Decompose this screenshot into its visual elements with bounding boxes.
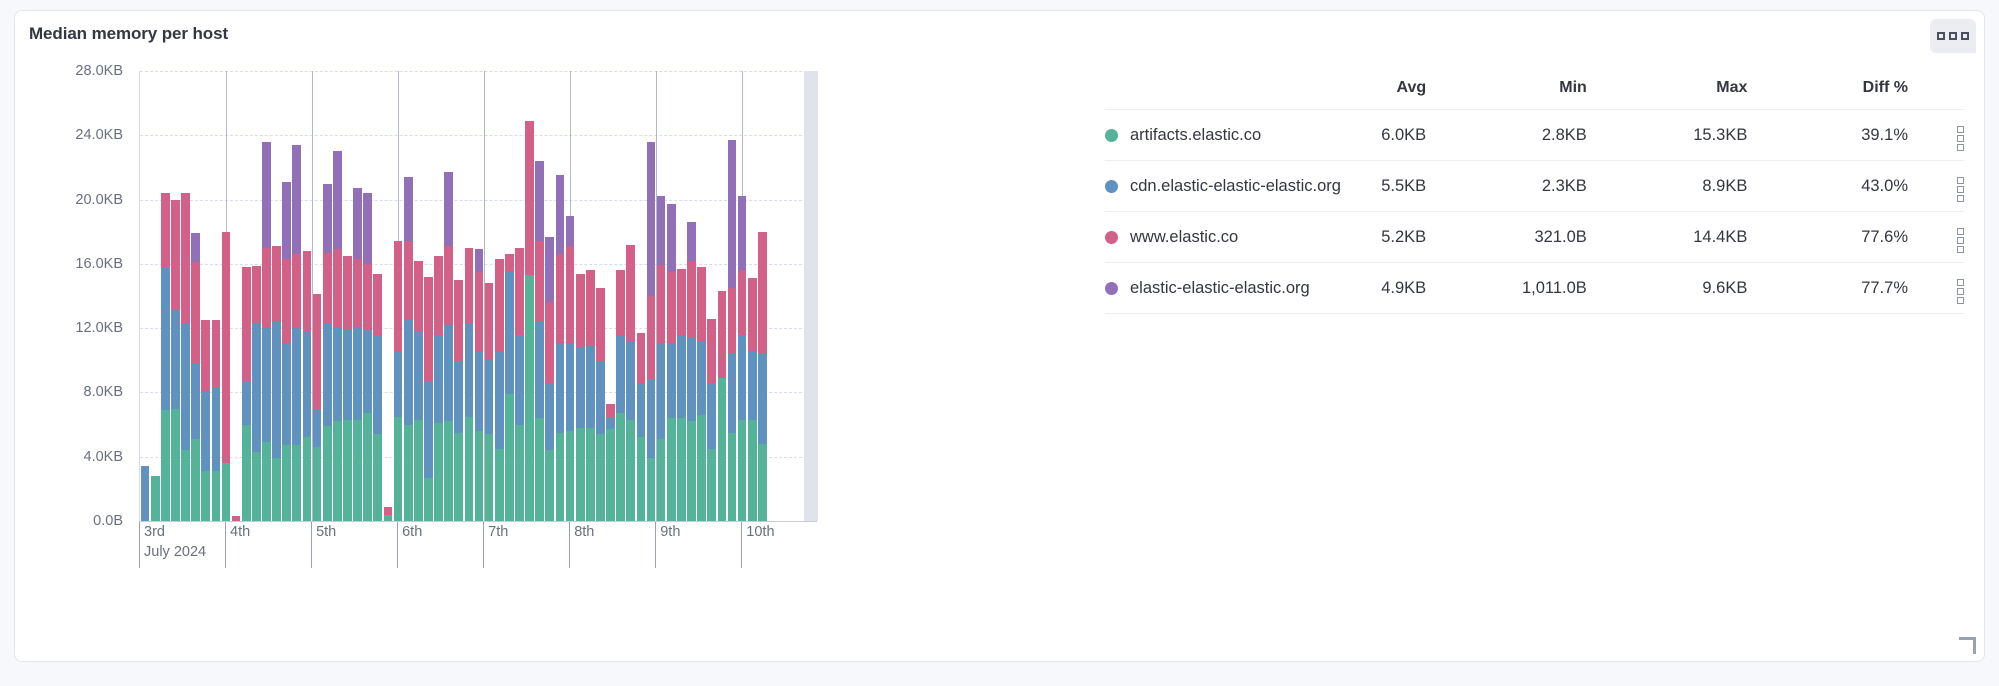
drag-handle-icon[interactable] xyxy=(1957,126,1964,151)
bar-stack[interactable] xyxy=(616,270,625,521)
bar-stack[interactable] xyxy=(728,140,737,521)
legend-max-value: 15.3KB xyxy=(1587,110,1748,161)
bar-stack[interactable] xyxy=(434,256,443,521)
bar-segment xyxy=(758,232,767,354)
bar-segment xyxy=(444,246,453,325)
bar-stack[interactable] xyxy=(475,249,484,521)
bar-segment xyxy=(323,184,332,253)
bar-segment xyxy=(465,248,474,324)
bar-segment xyxy=(505,394,514,521)
bar-segment xyxy=(515,335,524,425)
drag-handle-dot xyxy=(1957,288,1964,295)
bar-segment xyxy=(606,429,615,521)
bar-stack[interactable] xyxy=(576,274,585,521)
bar-segment xyxy=(475,272,484,352)
legend-header-max[interactable]: Max xyxy=(1587,79,1748,110)
bar-stack[interactable] xyxy=(738,196,747,521)
bar-stack[interactable] xyxy=(282,182,291,521)
bar-segment xyxy=(292,254,301,328)
bar-segment xyxy=(535,161,544,241)
bar-stack[interactable] xyxy=(424,277,433,521)
legend-series-label: elastic-elastic-elastic.org xyxy=(1130,279,1310,298)
bar-stack[interactable] xyxy=(343,256,352,521)
bar-stack[interactable] xyxy=(313,294,322,521)
legend-diff-value: 43.0% xyxy=(1747,161,1908,212)
legend-row[interactable]: cdn.elastic-elastic-elastic.org5.5KB2.3K… xyxy=(1105,161,1964,212)
legend-row-grip-cell[interactable] xyxy=(1908,212,1964,263)
bar-segment xyxy=(424,381,433,477)
bar-stack[interactable] xyxy=(141,466,150,521)
bar-segment xyxy=(282,182,291,259)
bar-stack[interactable] xyxy=(262,142,271,521)
legend-row-grip-cell[interactable] xyxy=(1908,161,1964,212)
drag-handle-icon[interactable] xyxy=(1957,228,1964,253)
drag-handle-dot xyxy=(1957,246,1964,253)
legend-min-value: 2.3KB xyxy=(1426,161,1587,212)
bar-segment xyxy=(292,328,301,445)
bar-segment xyxy=(353,259,362,327)
bar-segment xyxy=(323,426,332,521)
bar-segment xyxy=(404,320,413,424)
bar-stack[interactable] xyxy=(363,193,372,521)
bar-stack[interactable] xyxy=(505,254,514,521)
bar-segment xyxy=(616,336,625,413)
bar-segment xyxy=(465,417,474,521)
bar-segment xyxy=(748,420,757,521)
bar-stack[interactable] xyxy=(707,319,716,521)
bar-segment xyxy=(738,270,747,334)
bar-segment xyxy=(292,145,301,254)
bar-segment xyxy=(566,246,575,342)
bar-series-layer[interactable] xyxy=(140,71,817,521)
bar-segment xyxy=(545,450,554,521)
bar-segment xyxy=(556,433,565,521)
bar-stack[interactable] xyxy=(394,241,403,521)
bar-segment xyxy=(728,433,737,521)
legend-avg-value: 6.0KB xyxy=(1266,110,1427,161)
legend-max-value: 8.9KB xyxy=(1587,161,1748,212)
bar-segment xyxy=(576,274,585,348)
bar-segment xyxy=(404,241,413,320)
y-axis-tick-label: 8.0KB xyxy=(84,384,124,400)
panel-menu-square-1 xyxy=(1937,32,1945,40)
x-axis-tick-label: 7th xyxy=(488,522,508,542)
bar-stack[interactable] xyxy=(626,245,635,521)
bar-segment xyxy=(475,249,484,272)
resize-handle-icon[interactable] xyxy=(1959,637,1976,654)
bar-segment xyxy=(657,344,666,439)
legend-header-min[interactable]: Min xyxy=(1426,79,1587,110)
bar-segment xyxy=(444,325,453,421)
x-axis-tick: 6th xyxy=(397,522,422,568)
legend-row[interactable]: elastic-elastic-elastic.org4.9KB1,011.0B… xyxy=(1105,263,1964,314)
drag-handle-icon[interactable] xyxy=(1957,279,1964,304)
bar-segment xyxy=(576,428,585,521)
bar-segment xyxy=(535,241,544,321)
bar-stack[interactable] xyxy=(596,288,605,521)
bar-stack[interactable] xyxy=(242,267,251,521)
bar-stack[interactable] xyxy=(586,270,595,521)
x-axis-tick: 8th xyxy=(569,522,594,568)
bar-segment xyxy=(191,233,200,262)
bar-segment xyxy=(637,437,646,521)
bar-segment xyxy=(262,142,271,248)
bar-segment xyxy=(242,381,251,424)
legend-diff-value: 39.1% xyxy=(1747,110,1908,161)
bar-stack[interactable] xyxy=(323,184,332,521)
panel-body: 0.0B4.0KB8.0KB12.0KB16.0KB20.0KB24.0KB28… xyxy=(15,57,1984,661)
bar-stack[interactable] xyxy=(637,333,646,521)
bar-stack[interactable] xyxy=(606,404,615,521)
y-axis-tick-label: 4.0KB xyxy=(84,449,124,465)
bar-segment xyxy=(667,204,676,272)
legend-row[interactable]: www.elastic.co5.2KB321.0B14.4KB77.6% xyxy=(1105,212,1964,263)
bar-segment xyxy=(667,343,676,419)
bar-stack[interactable] xyxy=(657,196,666,521)
legend-series-label: cdn.elastic-elastic-elastic.org xyxy=(1130,177,1341,196)
bar-stack[interactable] xyxy=(222,232,231,521)
bar-stack[interactable] xyxy=(748,278,757,521)
bar-segment xyxy=(485,434,494,521)
bar-segment xyxy=(363,330,372,414)
bar-segment xyxy=(262,248,271,328)
bar-segment xyxy=(434,335,443,423)
bar-segment xyxy=(677,336,686,418)
bar-segment xyxy=(758,354,767,444)
bar-stack[interactable] xyxy=(303,251,312,521)
bar-segment xyxy=(566,431,575,521)
bar-stack[interactable] xyxy=(535,161,544,521)
bar-segment xyxy=(485,283,494,360)
bar-stack[interactable] xyxy=(292,145,301,521)
bar-segment xyxy=(626,420,635,521)
chart-container[interactable]: 0.0B4.0KB8.0KB12.0KB16.0KB20.0KB24.0KB28… xyxy=(23,57,1083,661)
legend-min-value: 321.0B xyxy=(1426,212,1587,263)
bar-segment xyxy=(252,266,261,324)
bar-segment xyxy=(323,323,332,426)
bar-segment xyxy=(545,383,554,451)
y-axis-tick-label: 20.0KB xyxy=(75,192,123,208)
bar-segment xyxy=(687,261,696,338)
bar-segment xyxy=(363,193,372,264)
y-axis-tick-label: 0.0B xyxy=(93,513,123,529)
drag-handle-dot xyxy=(1957,186,1964,193)
bar-segment xyxy=(181,450,190,521)
bar-segment xyxy=(667,418,676,521)
bar-segment xyxy=(191,439,200,521)
x-axis-tick-label: 9th xyxy=(660,522,680,542)
bar-segment xyxy=(566,343,575,431)
bar-segment xyxy=(424,478,433,521)
bar-segment xyxy=(201,320,210,391)
bar-stack[interactable] xyxy=(758,232,767,521)
bar-segment xyxy=(353,420,362,521)
legend-color-dot-icon xyxy=(1105,129,1118,142)
bar-segment xyxy=(728,288,737,354)
bar-segment xyxy=(697,267,706,341)
legend-header-diff[interactable]: Diff % xyxy=(1747,79,1908,110)
bar-stack[interactable] xyxy=(161,193,170,521)
bar-segment xyxy=(465,323,474,416)
bar-segment xyxy=(404,425,413,521)
bar-segment xyxy=(282,259,291,343)
bar-stack[interactable] xyxy=(545,237,554,521)
bar-segment xyxy=(556,344,565,432)
bar-segment xyxy=(637,384,646,437)
bar-stack[interactable] xyxy=(333,151,342,521)
bar-stack[interactable] xyxy=(485,283,494,521)
bar-stack[interactable] xyxy=(444,172,453,521)
bar-segment xyxy=(475,352,484,431)
bar-segment xyxy=(586,346,595,428)
x-axis-tick-label: 8th xyxy=(574,522,594,542)
bar-stack[interactable] xyxy=(667,204,676,521)
bar-segment xyxy=(333,327,342,422)
bar-segment xyxy=(272,458,281,521)
bar-segment xyxy=(485,360,494,434)
bar-segment xyxy=(171,200,180,311)
x-axis-tick: 9th xyxy=(655,522,680,568)
bar-stack[interactable] xyxy=(191,233,200,521)
bar-segment xyxy=(333,249,342,326)
legend-color-dot-icon xyxy=(1105,282,1118,295)
bar-stack[interactable] xyxy=(525,121,534,521)
legend-header-avg[interactable]: Avg xyxy=(1266,79,1427,110)
legend-avg-value: 5.2KB xyxy=(1266,212,1427,263)
drag-handle-dot xyxy=(1957,195,1964,202)
legend-table-container: Avg Min Max Diff % artifacts.elastic.co6… xyxy=(1083,57,1976,661)
bar-segment xyxy=(212,320,221,388)
drag-handle-dot xyxy=(1957,144,1964,151)
bar-stack[interactable] xyxy=(151,476,160,521)
y-axis-tick-label: 28.0KB xyxy=(75,63,123,79)
bar-segment xyxy=(191,262,200,363)
y-axis-tick-label: 24.0KB xyxy=(75,127,123,143)
bar-segment xyxy=(697,341,706,415)
bar-stack[interactable] xyxy=(384,507,393,521)
legend-row-grip-cell[interactable] xyxy=(1908,110,1964,161)
bar-segment xyxy=(292,445,301,521)
bar-segment xyxy=(353,188,362,259)
bar-segment xyxy=(151,476,160,521)
bar-stack[interactable] xyxy=(201,320,210,521)
bar-segment xyxy=(545,237,554,303)
bar-segment xyxy=(626,245,635,341)
bar-segment xyxy=(515,425,524,521)
bar-segment xyxy=(606,404,615,418)
drag-handle-dot xyxy=(1957,228,1964,235)
bar-segment xyxy=(394,352,403,416)
bar-segment xyxy=(242,267,251,381)
x-axis-tick: 4th xyxy=(225,522,250,568)
bar-stack[interactable] xyxy=(718,291,727,521)
x-axis-tick: 10th xyxy=(741,522,774,568)
panel-menu-square-2 xyxy=(1949,32,1957,40)
bar-stack[interactable] xyxy=(373,274,382,521)
bar-segment xyxy=(566,216,575,247)
bar-stack[interactable] xyxy=(353,188,362,521)
bar-stack[interactable] xyxy=(454,280,463,521)
bar-segment xyxy=(272,322,281,459)
bar-segment xyxy=(535,418,544,521)
bar-segment xyxy=(222,463,231,521)
legend-header-row: Avg Min Max Diff % xyxy=(1105,79,1964,110)
bar-stack[interactable] xyxy=(647,142,656,521)
bar-segment xyxy=(728,354,737,433)
bar-segment xyxy=(444,421,453,521)
bar-segment xyxy=(181,323,190,450)
bar-segment xyxy=(748,351,757,420)
bar-segment xyxy=(384,507,393,515)
bar-segment xyxy=(343,256,352,330)
drag-handle-icon[interactable] xyxy=(1957,177,1964,202)
bar-segment xyxy=(394,241,403,352)
bar-segment xyxy=(586,428,595,521)
x-axis-tick-label: 4th xyxy=(230,522,250,542)
bar-segment xyxy=(404,177,413,241)
bar-segment xyxy=(373,274,382,337)
bar-stack[interactable] xyxy=(556,175,565,521)
bar-segment xyxy=(495,259,504,352)
bar-segment xyxy=(201,471,210,521)
bar-segment xyxy=(201,391,210,471)
bar-segment xyxy=(434,256,443,335)
bar-segment xyxy=(262,442,271,521)
bar-segment xyxy=(556,175,565,254)
bar-segment xyxy=(141,466,150,521)
bar-segment xyxy=(454,280,463,362)
bar-segment xyxy=(647,458,656,521)
bar-segment xyxy=(252,452,261,521)
bar-stack[interactable] xyxy=(181,193,190,521)
bar-segment xyxy=(616,413,625,521)
bar-segment xyxy=(272,246,281,322)
x-axis-tick-label: 3rd xyxy=(144,522,206,542)
y-axis-tick-label: 12.0KB xyxy=(75,320,123,336)
page-title: Median memory per host xyxy=(29,24,228,44)
bar-stack[interactable] xyxy=(495,259,504,521)
legend-diff-value: 77.7% xyxy=(1747,263,1908,314)
x-axis-tick: 3rdJuly 2024 xyxy=(139,522,206,568)
bar-segment xyxy=(161,193,170,267)
legend-min-value: 2.8KB xyxy=(1426,110,1587,161)
bar-segment xyxy=(718,378,727,521)
legend-color-dot-icon xyxy=(1105,180,1118,193)
bar-segment xyxy=(454,433,463,521)
plot-area[interactable] xyxy=(139,71,817,521)
bar-segment xyxy=(525,275,534,521)
legend-series-name-cell[interactable]: cdn.elastic-elastic-elastic.org xyxy=(1105,161,1266,212)
bar-segment xyxy=(373,336,382,434)
bar-segment xyxy=(303,331,312,437)
bar-segment xyxy=(363,413,372,521)
bar-stack[interactable] xyxy=(687,222,696,521)
y-axis: 0.0B4.0KB8.0KB12.0KB16.0KB20.0KB24.0KB28… xyxy=(23,71,131,521)
bar-stack[interactable] xyxy=(465,248,474,521)
bar-segment xyxy=(515,248,524,335)
legend-series-name-cell[interactable]: www.elastic.co xyxy=(1105,212,1266,263)
bar-segment xyxy=(161,267,170,410)
bar-segment xyxy=(525,121,534,275)
bar-stack[interactable] xyxy=(212,320,221,521)
legend-series-name-cell[interactable]: artifacts.elastic.co xyxy=(1105,110,1266,161)
bar-stack[interactable] xyxy=(252,266,261,522)
bar-segment xyxy=(333,421,342,521)
bar-segment xyxy=(414,261,423,332)
bar-segment xyxy=(252,323,261,452)
bar-segment xyxy=(333,151,342,249)
bar-stack[interactable] xyxy=(272,246,281,521)
bar-segment xyxy=(657,265,666,344)
legend-diff-value: 77.6% xyxy=(1747,212,1908,263)
bar-stack[interactable] xyxy=(171,200,180,521)
bar-segment xyxy=(303,251,312,331)
dashboard-panel-root: Median memory per host 0.0B4.0KB8.0KB12.… xyxy=(0,0,1999,686)
panel-menu-square-3 xyxy=(1961,32,1969,40)
bar-segment xyxy=(495,449,504,521)
bar-segment xyxy=(707,449,716,521)
bar-segment xyxy=(687,421,696,521)
bar-segment xyxy=(373,434,382,521)
bar-stack[interactable] xyxy=(566,216,575,521)
bar-segment xyxy=(616,270,625,336)
bar-segment xyxy=(282,445,291,521)
bar-segment xyxy=(647,142,656,296)
bar-segment xyxy=(687,338,696,422)
bar-segment xyxy=(738,196,747,270)
panel-menu-icon[interactable] xyxy=(1930,19,1976,53)
bar-segment xyxy=(657,196,666,265)
bar-segment xyxy=(181,193,190,323)
legend-row-grip-cell[interactable] xyxy=(1908,263,1964,314)
bar-segment xyxy=(586,270,595,346)
bar-segment xyxy=(677,418,686,521)
bar-segment xyxy=(606,418,615,429)
bar-segment xyxy=(282,343,291,446)
bar-segment xyxy=(667,272,676,343)
bar-segment xyxy=(343,420,352,521)
bar-segment xyxy=(718,291,727,378)
bar-segment xyxy=(545,302,554,382)
legend-series-label: www.elastic.co xyxy=(1130,228,1238,247)
bar-segment xyxy=(191,364,200,440)
legend-series-name-cell[interactable]: elastic-elastic-elastic.org xyxy=(1105,263,1266,314)
bar-stack[interactable] xyxy=(515,248,524,521)
bar-stack[interactable] xyxy=(677,269,686,521)
bar-segment xyxy=(596,288,605,362)
bar-stack[interactable] xyxy=(404,177,413,521)
visualization-panel: Median memory per host 0.0B4.0KB8.0KB12.… xyxy=(14,10,1985,662)
legend-row[interactable]: artifacts.elastic.co6.0KB2.8KB15.3KB39.1… xyxy=(1105,110,1964,161)
bar-segment xyxy=(303,437,312,521)
chart-inner: 0.0B4.0KB8.0KB12.0KB16.0KB20.0KB24.0KB28… xyxy=(23,71,1083,586)
bar-segment xyxy=(758,444,767,521)
bar-segment xyxy=(556,254,565,344)
bar-stack[interactable] xyxy=(697,267,706,521)
bar-segment xyxy=(738,335,747,420)
bar-segment xyxy=(475,431,484,521)
drag-handle-dot xyxy=(1957,135,1964,142)
bar-segment xyxy=(454,362,463,433)
bar-stack[interactable] xyxy=(414,261,423,521)
x-axis: 3rdJuly 20244th5th6th7th8th9th10th xyxy=(139,521,817,582)
bar-segment xyxy=(212,471,221,521)
legend-table-body: artifacts.elastic.co6.0KB2.8KB15.3KB39.1… xyxy=(1105,110,1964,314)
legend-header-name xyxy=(1105,79,1266,110)
bar-segment xyxy=(171,310,180,408)
bar-segment xyxy=(576,347,585,427)
bar-segment xyxy=(748,278,757,350)
